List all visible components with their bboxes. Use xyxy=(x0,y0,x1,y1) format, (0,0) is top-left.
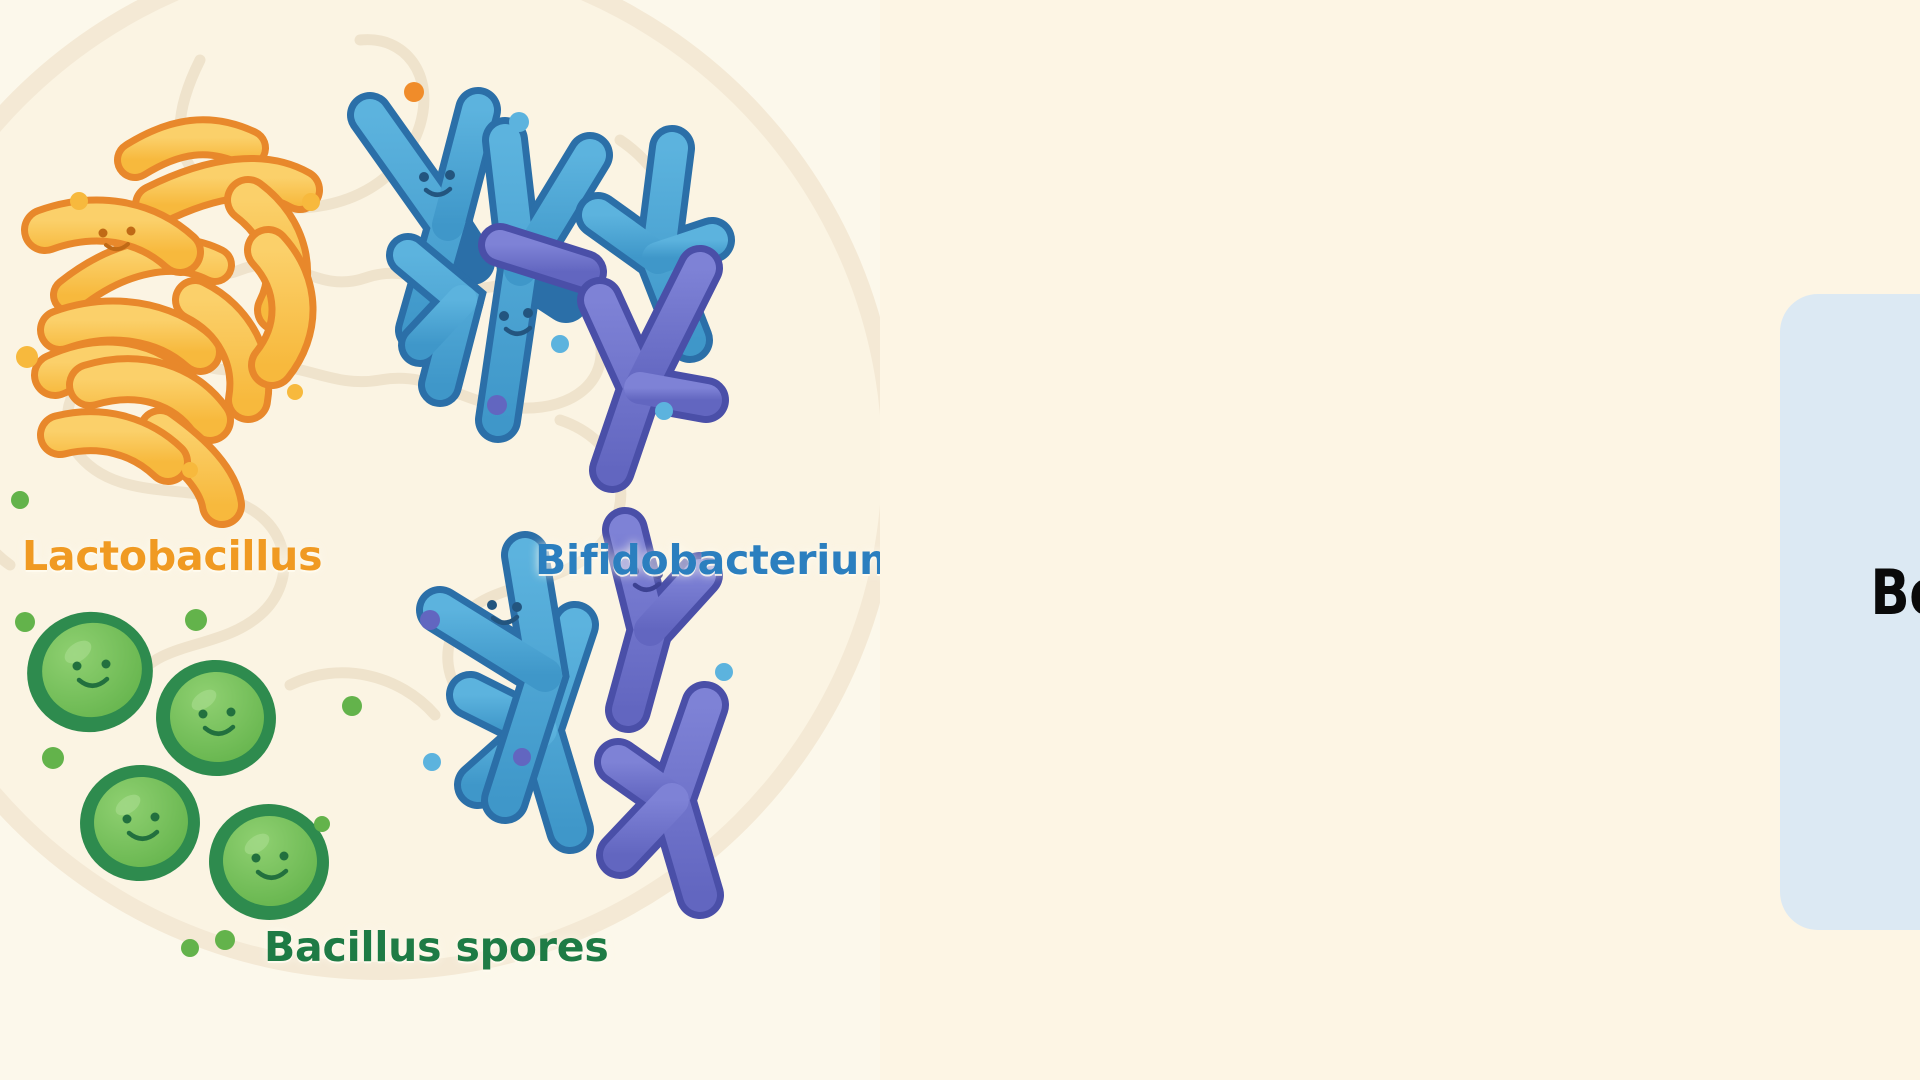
bifidobacterium-group-lower xyxy=(440,530,705,895)
label-bacillus-spores: Bacillus spores xyxy=(264,923,609,971)
title-line-3: Combos xyxy=(1856,636,1920,722)
lactobacillus-group xyxy=(45,137,300,505)
bifido-face-icon xyxy=(487,600,522,623)
spore xyxy=(73,757,208,889)
label-lactobacillus: Lactobacillus xyxy=(22,532,322,580)
bacillus-spores-group xyxy=(16,600,335,926)
title-line-2: Benefits & Best Multi-Strain xyxy=(1856,550,1920,636)
spore xyxy=(149,652,284,784)
spore xyxy=(203,798,334,926)
label-bifidobacterium: Bifidobacterium xyxy=(535,536,880,584)
content-pane: Bio P HYSICS ™ ESSENTIALS Probiotic Stra… xyxy=(880,0,1920,1080)
page-title: Probiotic Strains Guide: Benefits & Best… xyxy=(1856,464,1920,722)
title-line-1: Probiotic Strains Guide: xyxy=(1856,464,1920,550)
spore xyxy=(16,600,164,744)
page-root: Lactobacillus Bifidobacterium Bacillus s… xyxy=(0,0,1920,1080)
title-card: Bio P HYSICS ™ ESSENTIALS Probiotic Stra… xyxy=(1780,294,1920,930)
illustration-pane: Lactobacillus Bifidobacterium Bacillus s… xyxy=(0,0,880,1080)
